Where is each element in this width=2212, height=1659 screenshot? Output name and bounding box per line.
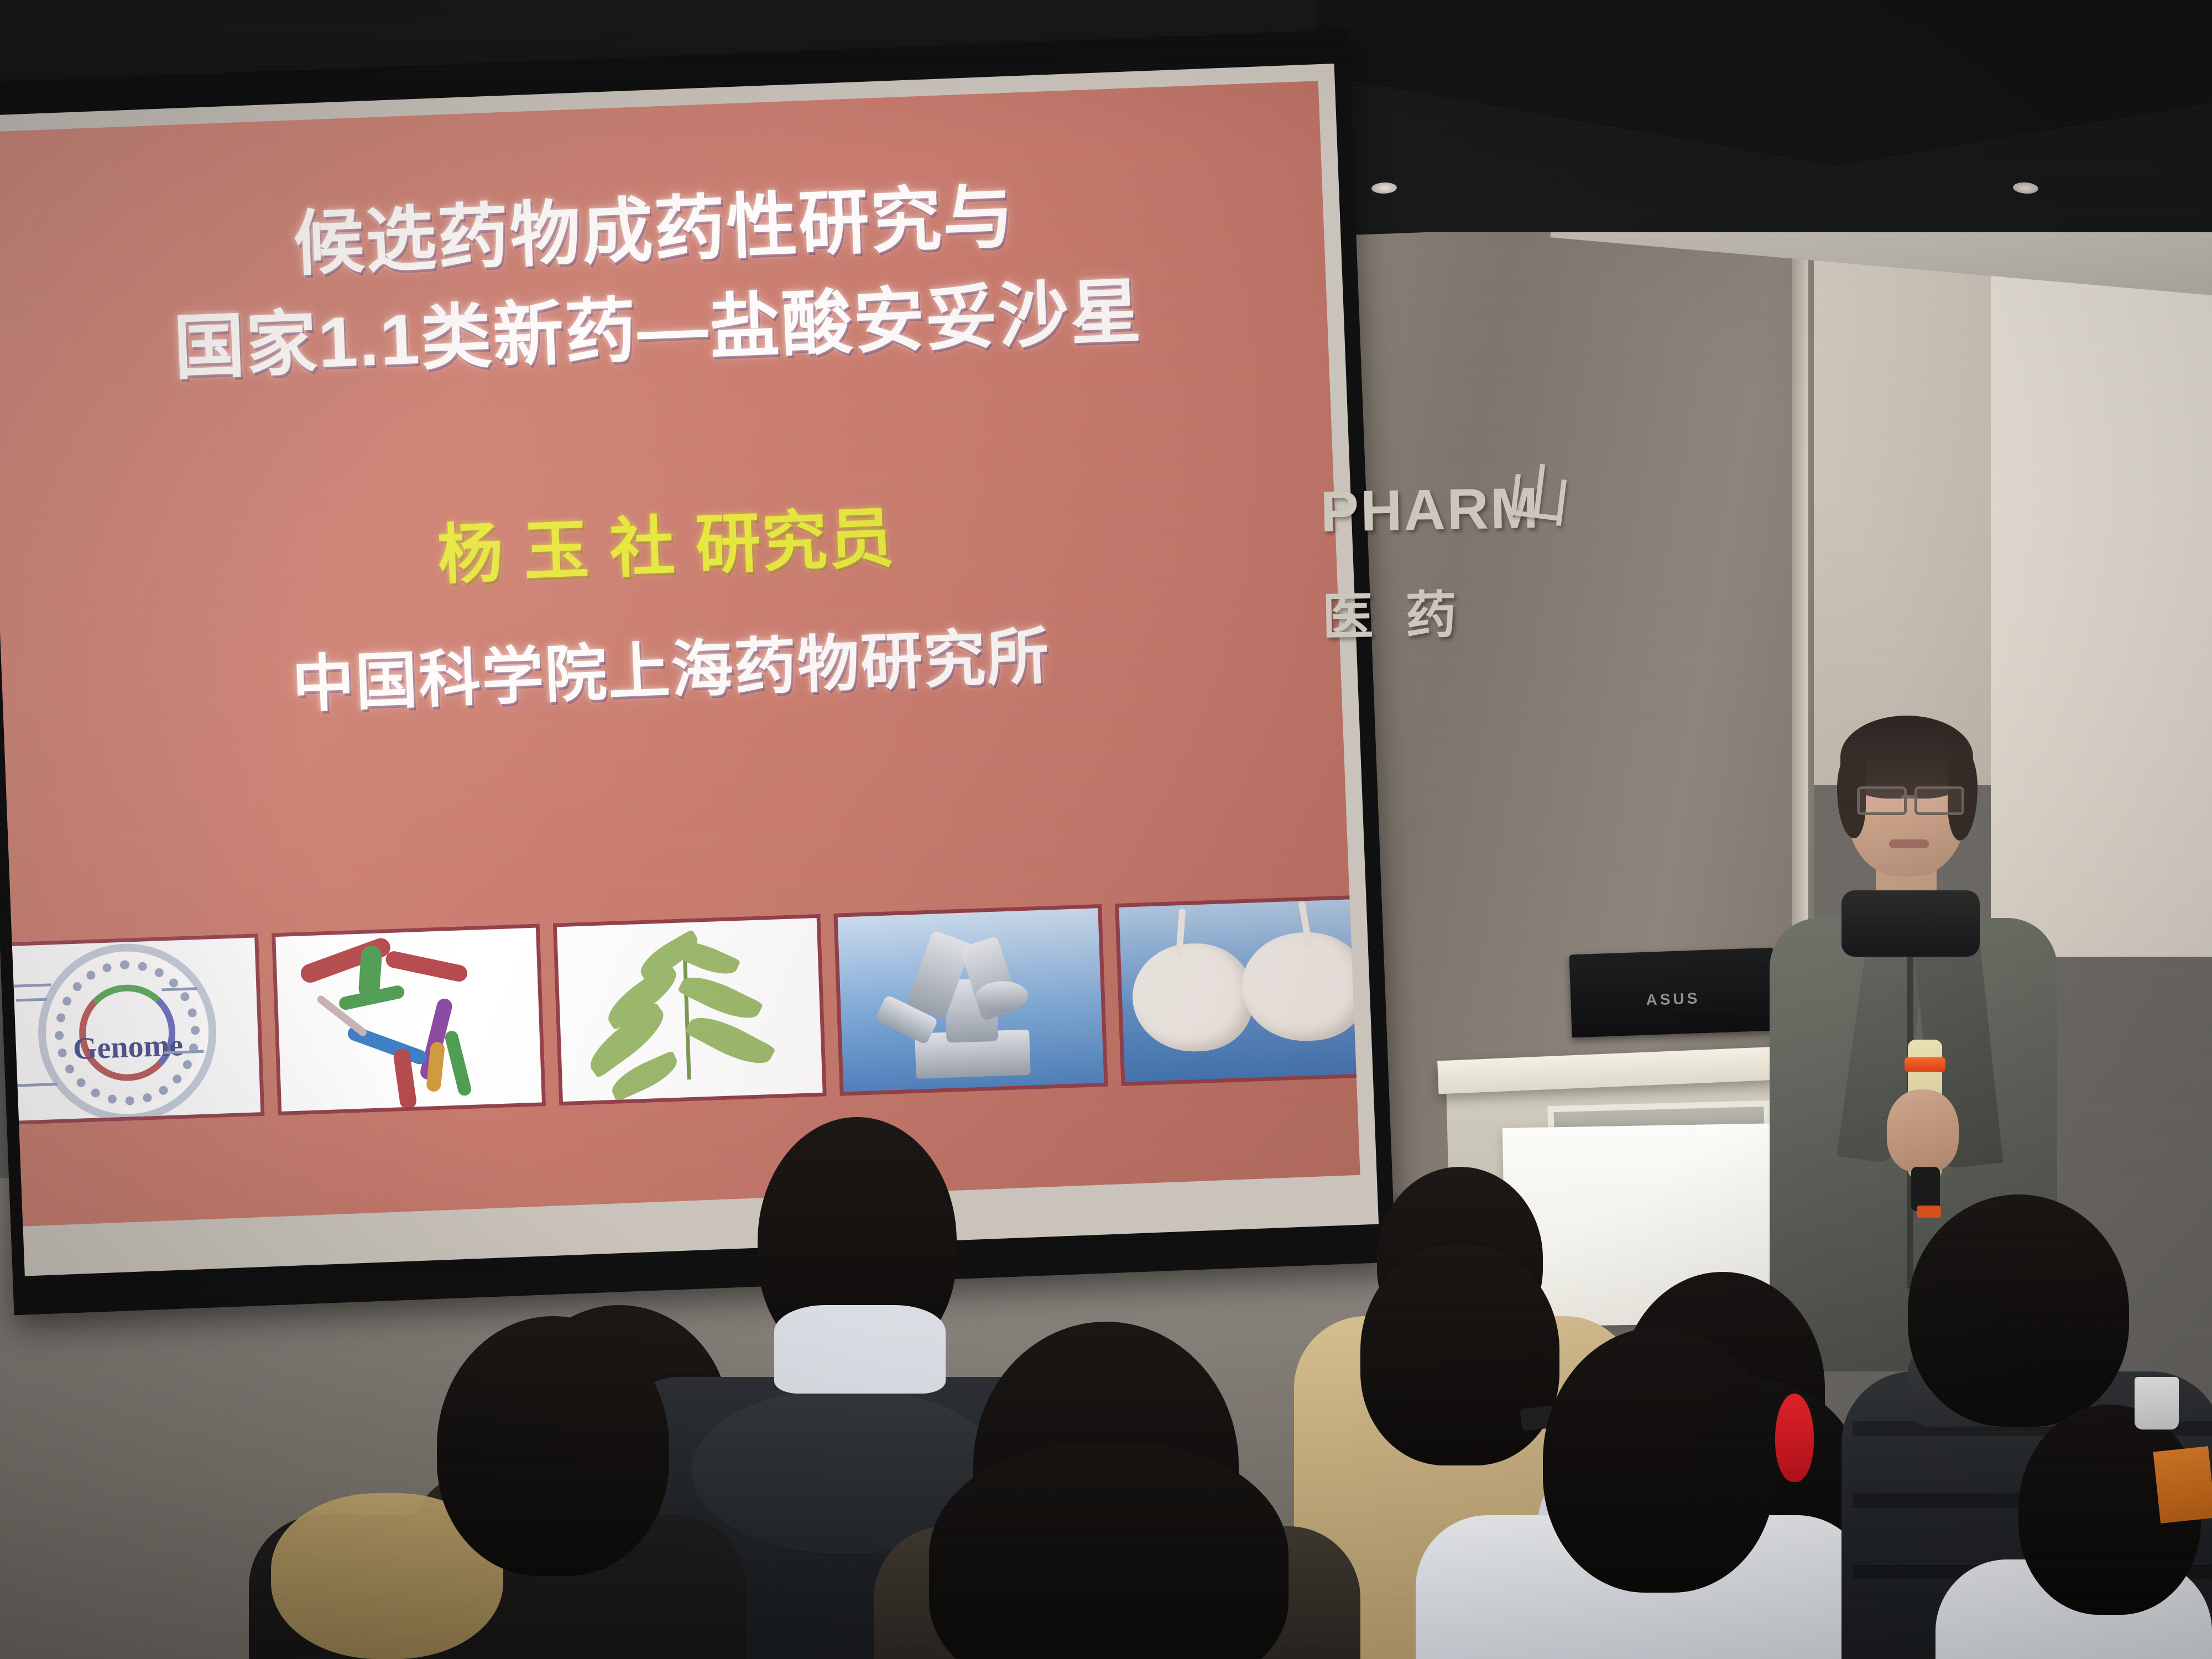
slide-organization: 中国科学院上海药物研究所 [1,588,1360,735]
audience-head [1543,1327,1775,1593]
glasses-lens-right [1914,786,1964,815]
audience-head [437,1316,669,1576]
audience-member-white-coat [1416,1449,1869,1659]
white-cup [2135,1377,2179,1430]
protein-helix [444,1030,472,1097]
presentation-slide: 候选药物成药性研究与 国家1.1类新药—盐酸安妥沙星 杨 玉 社 研究员 中国科… [0,81,1360,1226]
audience-member-fur-hood [249,1383,747,1659]
mouse-body [1131,941,1254,1053]
thumb-lab-mice [1115,894,1360,1086]
laptop-brand-logo: ASUS [1646,989,1700,1009]
mouse-body [1240,930,1360,1043]
genome-caption: Genome [72,1027,184,1067]
slide-speaker-name: 杨 玉 社 研究员 [0,462,1360,614]
plant-leaf [684,1007,776,1074]
thumb-genome-diagram: Genome [0,933,264,1125]
glasses-lens-left [1857,786,1907,815]
orange-chair-back [2153,1446,2212,1524]
wall-sign: 山 PHARM 医 药 [1320,472,1755,690]
genome-tick [13,1083,58,1087]
presenter-laptop[interactable]: ASUS [1569,948,1776,1038]
thumb-robotic-arm [834,904,1108,1096]
plant-leaf [677,967,764,1027]
audience-member-long-hair-center [863,1344,1360,1659]
sign-chinese-text: 医 药 [1322,568,1754,650]
glasses-bridge [1901,795,1916,799]
thumb-protein-structure [272,924,546,1115]
genome-tick [12,983,51,987]
audience-head [1908,1194,2129,1427]
audience-hair [929,1443,1288,1659]
slide-thumbnail-strip: Genome [0,894,1360,1125]
protein-helix [384,950,469,983]
presenter-hand [1887,1089,1959,1172]
presenter-mouth [1889,839,1929,848]
robot-joint [975,980,1029,1012]
projection-screen: 候选药物成药性研究与 国家1.1类新药—盐酸安妥沙星 杨 玉 社 研究员 中国科… [0,29,1430,1338]
sign-mark-glyph: 山 [1501,439,1578,540]
presenter-collar [1841,890,1980,957]
audience-hair [1360,1244,1559,1465]
thumb-plant-photo [552,914,827,1106]
genome-tick [16,998,47,1002]
lecture-hall-photo: 候选药物成药性研究与 国家1.1类新药—盐酸安妥沙星 杨 玉 社 研究员 中国科… [0,0,2212,1659]
microphone-band [1905,1057,1945,1072]
